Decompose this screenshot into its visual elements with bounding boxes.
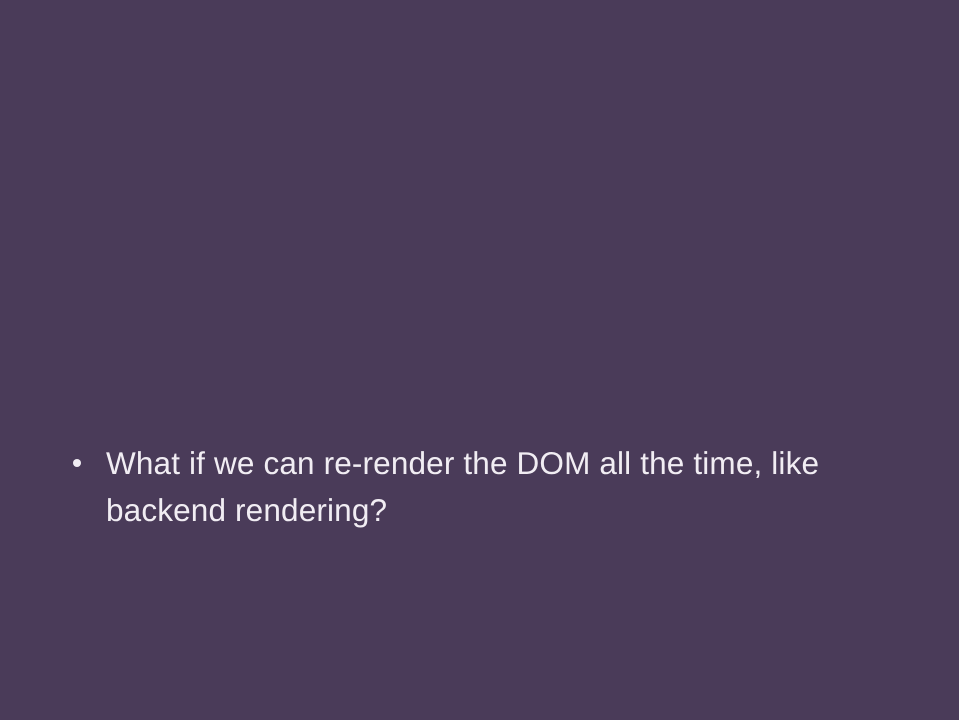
list-item-sub: state tracking will not be a problem xyxy=(0,360,959,410)
list-item-sub: but it’s horribly slow xyxy=(0,449,959,499)
bullet-list: What if we can re-render the DOM all the… xyxy=(0,0,959,720)
list-item-main: What if we can re-render the DOM all the… xyxy=(0,218,959,328)
slide-canvas: What if we can re-render the DOM all the… xyxy=(0,0,959,720)
